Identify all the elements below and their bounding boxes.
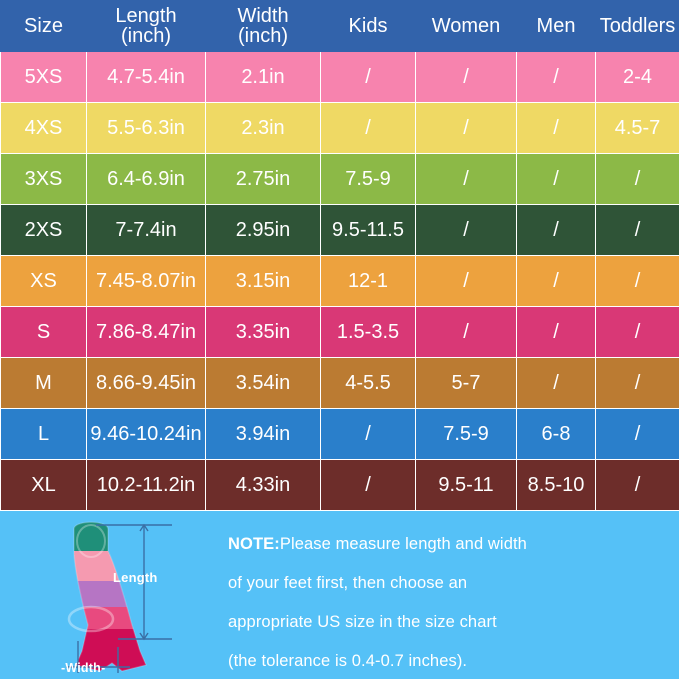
cell-width: 2.95in	[206, 205, 321, 256]
cell-kids: /	[321, 52, 416, 103]
cell-women: 7.5-9	[416, 409, 517, 460]
width-dimension-label: -Width-	[61, 661, 105, 675]
cell-size: 2XS	[1, 205, 87, 256]
note-label: NOTE:	[228, 535, 280, 553]
cell-women: /	[416, 205, 517, 256]
fin-illustration: Length -Width-	[0, 511, 220, 679]
cell-men: /	[517, 52, 596, 103]
cell-men: /	[517, 154, 596, 205]
cell-length: 8.66-9.45in	[87, 358, 206, 409]
cell-length: 10.2-11.2in	[87, 460, 206, 511]
cell-length: 7-7.4in	[87, 205, 206, 256]
column-header-size: Size	[1, 1, 87, 52]
cell-width: 3.15in	[206, 256, 321, 307]
cell-size: 5XS	[1, 52, 87, 103]
cell-size: 3XS	[1, 154, 87, 205]
length-dimension-label: Length	[113, 570, 158, 585]
header-label-toddlers: Toddlers	[600, 15, 676, 37]
cell-size: XL	[1, 460, 87, 511]
cell-width: 3.35in	[206, 307, 321, 358]
size-chart-page: Size Length (inch) Width (inch) Kids Wom…	[0, 0, 679, 679]
cell-women: /	[416, 103, 517, 154]
cell-women: 5-7	[416, 358, 517, 409]
header-label-men: Men	[537, 15, 576, 37]
cell-kids: /	[321, 409, 416, 460]
header-label-size: Size	[24, 15, 63, 37]
header-row: Size Length (inch) Width (inch) Kids Wom…	[1, 1, 679, 52]
cell-kids: /	[321, 103, 416, 154]
cell-size: 4XS	[1, 103, 87, 154]
cell-toddlers: 4.5-7	[596, 103, 679, 154]
cell-toddlers: 2-4	[596, 52, 679, 103]
cell-kids: 1.5-3.5	[321, 307, 416, 358]
cell-size: L	[1, 409, 87, 460]
cell-width: 3.54in	[206, 358, 321, 409]
table-row: 5XS4.7-5.4in2.1in///2-4	[1, 52, 679, 103]
table-row: L9.46-10.24in3.94in/7.5-96-8/	[1, 409, 679, 460]
column-header-women: Women	[416, 1, 517, 52]
column-header-men: Men	[517, 1, 596, 52]
cell-men: 8.5-10	[517, 460, 596, 511]
note-text: NOTE:Please measure length and width of …	[228, 525, 668, 679]
cell-men: /	[517, 103, 596, 154]
cell-men: /	[517, 307, 596, 358]
cell-men: /	[517, 256, 596, 307]
table-row: XS7.45-8.07in3.15in12-1///	[1, 256, 679, 307]
cell-kids: 12-1	[321, 256, 416, 307]
cell-toddlers: /	[596, 154, 679, 205]
cell-kids: 7.5-9	[321, 154, 416, 205]
cell-men: /	[517, 205, 596, 256]
header-unit-width: (inch)	[206, 26, 320, 46]
cell-size: S	[1, 307, 87, 358]
table-row: 4XS5.5-6.3in2.3in///4.5-7	[1, 103, 679, 154]
cell-kids: 9.5-11.5	[321, 205, 416, 256]
header-unit-length: (inch)	[87, 26, 205, 46]
note-line-3: appropriate US size in the size chart	[228, 603, 668, 642]
cell-men: 6-8	[517, 409, 596, 460]
note-line-2: of your feet first, then choose an	[228, 564, 668, 603]
column-header-toddlers: Toddlers	[596, 1, 679, 52]
cell-length: 5.5-6.3in	[87, 103, 206, 154]
table-row: XL10.2-11.2in4.33in/9.5-118.5-10/	[1, 460, 679, 511]
cell-size: M	[1, 358, 87, 409]
table-row: 3XS6.4-6.9in2.75in7.5-9///	[1, 154, 679, 205]
cell-women: /	[416, 154, 517, 205]
cell-width: 2.75in	[206, 154, 321, 205]
header-label-length: Length	[115, 5, 176, 27]
table-body: 5XS4.7-5.4in2.1in///2-44XS5.5-6.3in2.3in…	[1, 52, 679, 511]
note-line-1-text: Please measure length and width	[280, 535, 527, 553]
header-label-kids: Kids	[349, 15, 388, 37]
cell-women: /	[416, 256, 517, 307]
cell-width: 3.94in	[206, 409, 321, 460]
cell-kids: /	[321, 460, 416, 511]
column-header-width: Width (inch)	[206, 1, 321, 52]
cell-toddlers: /	[596, 460, 679, 511]
cell-length: 4.7-5.4in	[87, 52, 206, 103]
header-label-women: Women	[432, 15, 501, 37]
cell-length: 6.4-6.9in	[87, 154, 206, 205]
table-header: Size Length (inch) Width (inch) Kids Wom…	[1, 1, 679, 52]
cell-women: /	[416, 52, 517, 103]
column-header-kids: Kids	[321, 1, 416, 52]
cell-men: /	[517, 358, 596, 409]
cell-toddlers: /	[596, 358, 679, 409]
cell-length: 9.46-10.24in	[87, 409, 206, 460]
swim-fin-graphic	[22, 521, 202, 679]
cell-women: /	[416, 307, 517, 358]
cell-women: 9.5-11	[416, 460, 517, 511]
cell-toddlers: /	[596, 205, 679, 256]
cell-toddlers: /	[596, 307, 679, 358]
cell-length: 7.86-8.47in	[87, 307, 206, 358]
cell-size: XS	[1, 256, 87, 307]
cell-width: 2.3in	[206, 103, 321, 154]
column-header-length: Length (inch)	[87, 1, 206, 52]
table-row: S7.86-8.47in3.35in1.5-3.5///	[1, 307, 679, 358]
cell-width: 2.1in	[206, 52, 321, 103]
fin-body	[22, 521, 202, 679]
size-chart-table: Size Length (inch) Width (inch) Kids Wom…	[0, 0, 679, 511]
note-panel: Length -Width- NOTE:Please measure lengt…	[0, 511, 679, 679]
cell-length: 7.45-8.07in	[87, 256, 206, 307]
header-label-width: Width	[237, 5, 288, 27]
cell-toddlers: /	[596, 256, 679, 307]
cell-kids: 4-5.5	[321, 358, 416, 409]
cell-width: 4.33in	[206, 460, 321, 511]
note-line-4: (the tolerance is 0.4-0.7 inches).	[228, 642, 668, 679]
table-row: 2XS7-7.4in2.95in9.5-11.5///	[1, 205, 679, 256]
cell-toddlers: /	[596, 409, 679, 460]
note-line-1: NOTE:Please measure length and width	[228, 525, 668, 564]
table-row: M8.66-9.45in3.54in4-5.55-7//	[1, 358, 679, 409]
